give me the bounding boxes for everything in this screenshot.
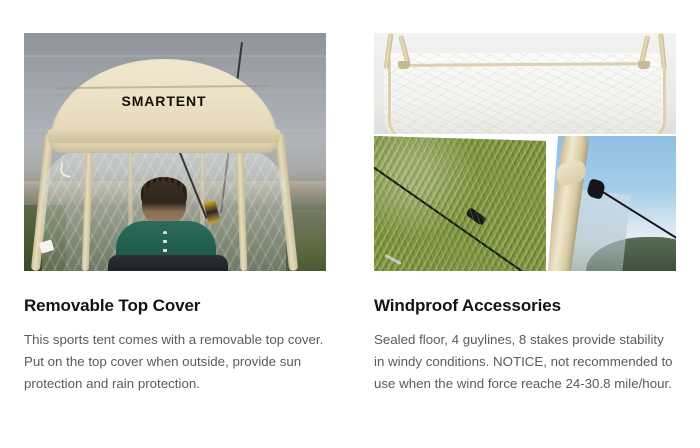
brand-label: SMARTENT xyxy=(50,93,278,109)
feature-heading-removable-top-cover: Removable Top Cover xyxy=(24,296,326,316)
feature-column-windproof-accessories: Windproof Accessories Sealed floor, 4 gu… xyxy=(350,0,700,395)
folding-chair xyxy=(108,255,228,271)
panel-sealed-floor xyxy=(374,33,676,134)
feature-column-removable-top-cover: SMARTENT Removable Top Cover This sports… xyxy=(0,0,350,395)
lake-background: SMARTENT xyxy=(24,33,326,271)
panel-guyline-on-pole xyxy=(548,136,676,271)
feature-heading-windproof-accessories: Windproof Accessories xyxy=(374,296,676,316)
windproof-accessories-image xyxy=(374,33,676,271)
pole-foot xyxy=(638,61,650,69)
shirt-seam xyxy=(163,231,167,257)
feature-section: SMARTENT Removable Top Cover This sports… xyxy=(0,0,700,448)
guyline-tensioner xyxy=(465,207,487,226)
feature-body-removable-top-cover: This sports tent comes with a removable … xyxy=(24,329,324,395)
feature-body-windproof-accessories: Sealed floor, 4 guylines, 8 stakes provi… xyxy=(374,329,674,395)
three-panel-composite xyxy=(374,33,676,271)
pole-foot xyxy=(398,61,410,69)
water-streak xyxy=(24,55,326,57)
feature-columns: SMARTENT Removable Top Cover This sports… xyxy=(0,0,700,395)
grass-right xyxy=(296,231,326,271)
person-head xyxy=(142,181,186,225)
floor-frame-rim xyxy=(388,59,666,134)
canopy-lip xyxy=(48,129,280,143)
guyline xyxy=(374,154,546,271)
tent-top-cover-image: SMARTENT xyxy=(24,33,326,271)
ground-stake xyxy=(384,254,401,265)
panel-guyline-stake-in-grass xyxy=(374,136,546,271)
